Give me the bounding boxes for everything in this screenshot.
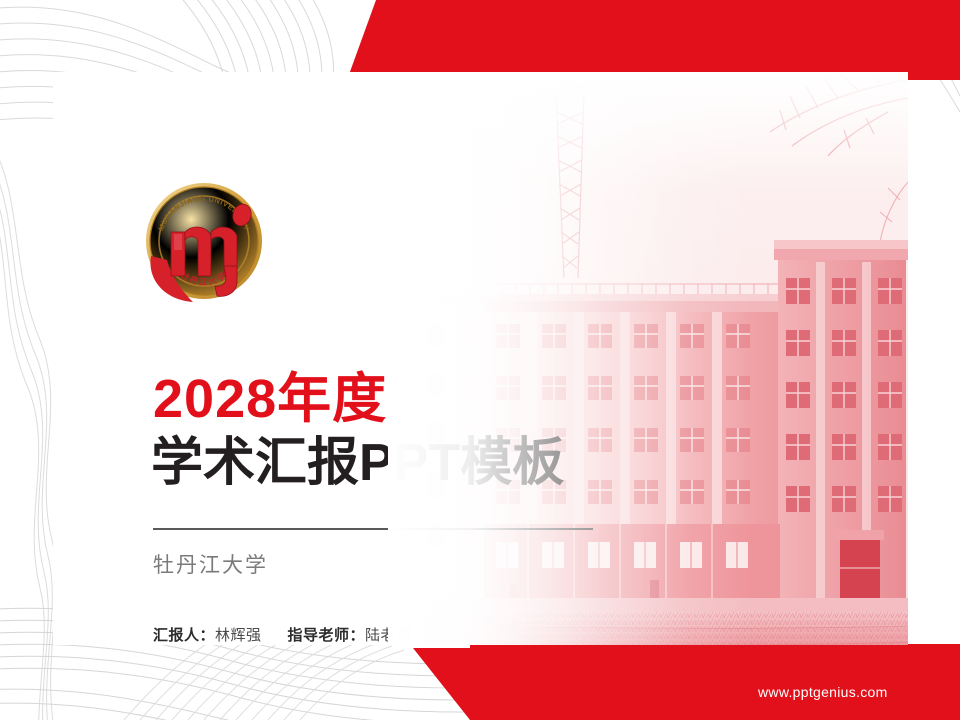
campus-building-photo [388, 72, 908, 645]
title-divider [153, 528, 593, 530]
advisor-label: 指导老师： [288, 627, 366, 644]
red-diagonal-band-top [0, 0, 960, 80]
title-main: 学术汇报PPT模板 [151, 437, 564, 489]
mudanjiang-university-logo-icon: MUDANJIANG UNIVERSITY 牡丹江大学 [141, 178, 267, 304]
photo-artwork [388, 72, 908, 645]
reporter-label: 汇报人： [153, 627, 215, 644]
slide-canvas: MUDANJIANG UNIVERSITY 牡丹江大学 2028年度 学术 [0, 0, 960, 720]
slide-card: MUDANJIANG UNIVERSITY 牡丹江大学 2028年度 学术 [53, 72, 908, 645]
advisor-name: 陆老师 [365, 627, 412, 644]
footer-website-url[interactable]: www.pptgenius.com [758, 684, 888, 700]
university-name-subtitle: 牡丹江大学 [153, 549, 268, 579]
reporter-name: 林辉强 [215, 627, 262, 644]
credits-line: 汇报人：林辉强指导老师：陆老师 [153, 624, 412, 645]
title-year: 2028年度 [153, 372, 387, 426]
